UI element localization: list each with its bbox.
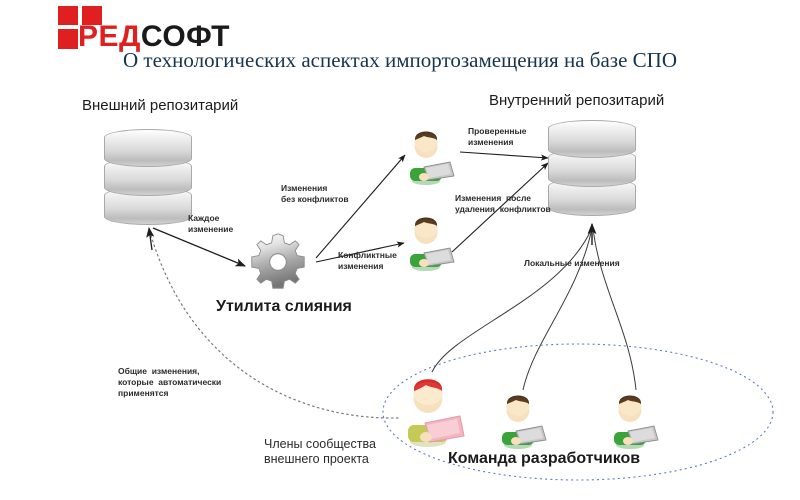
internal-repository-label: Внутренний репозитарий xyxy=(489,92,664,109)
edge-person-top-to-internal xyxy=(460,152,548,158)
annotation-common-auto: Общие изменения, которые автоматически п… xyxy=(118,366,221,399)
annotation-each-change: Каждое изменение xyxy=(188,213,233,235)
annotation-checked-changes: Проверенные изменения xyxy=(468,126,527,148)
edge-team3-to-internal xyxy=(593,228,636,390)
slide-canvas: РЕДСОФТ О технологических аспектах импор… xyxy=(0,0,800,500)
edge-gear-to-person-top xyxy=(316,155,405,258)
external-repository-label: Внешний репозитарий xyxy=(82,97,238,114)
person-with-laptop-icon xyxy=(608,388,660,450)
annotation-conflict-changes: Конфликтные изменения xyxy=(338,250,397,272)
edge-team1-to-internal xyxy=(432,228,592,372)
annotation-no-conflicts: Изменения без конфликтов xyxy=(281,183,349,205)
edge-external-arrowhead xyxy=(149,228,152,250)
redsoft-logo: РЕДСОФТ xyxy=(58,6,248,52)
gear-icon xyxy=(246,230,310,294)
person-with-laptop-icon xyxy=(404,124,456,186)
db-disc xyxy=(548,120,636,158)
logo-square-top-left xyxy=(58,6,78,25)
db-disc xyxy=(104,129,192,167)
annotation-local-changes: Локальные изменения xyxy=(524,258,620,269)
person-with-laptop-icon xyxy=(404,210,456,272)
logo-square-bottom-left xyxy=(58,29,78,49)
annotation-after-conflicts: Изменения после удаления конфликтов xyxy=(455,193,551,215)
internal-repository-database-icon xyxy=(548,120,636,216)
annotation-community-members: Члены сообщества внешнего проекта xyxy=(264,437,376,467)
person-with-laptop-icon xyxy=(496,388,548,450)
person-with-laptop-icon xyxy=(400,370,466,448)
merge-utility-caption: Утилита слияния xyxy=(216,298,352,316)
external-repository-database-icon xyxy=(104,129,192,225)
page-title: О технологических аспектах импортозамеще… xyxy=(0,48,800,73)
edge-team2-to-internal xyxy=(523,228,592,390)
dev-team-caption: Команда разработчиков xyxy=(448,450,640,468)
